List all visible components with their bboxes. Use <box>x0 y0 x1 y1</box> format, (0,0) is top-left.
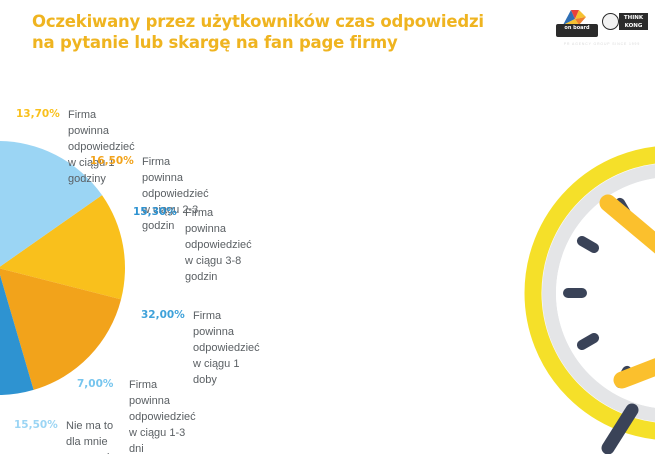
onboard-logo-text: on board <box>556 24 598 37</box>
legend-label-3: Firma powinna odpowiedziećw ciągu 3-8 go… <box>185 205 252 285</box>
infographic-canvas: Oczekiwany przez użytkowników czas odpow… <box>0 0 655 454</box>
legend-label-5: Firma powinnaodpowiedzieć w ciągu 1-3 dn… <box>129 377 196 454</box>
legend-label-6: Nie ma to dla mnie znaczenia. Nie mam sp… <box>66 418 127 454</box>
header: Oczekiwany przez użytkowników czas odpow… <box>0 0 655 70</box>
legend-percent-6: 15,50% <box>14 419 58 431</box>
logo-group: on board THINK KONG <box>556 9 648 41</box>
clock-tick <box>582 241 594 248</box>
thinkkong-logo-text: THINK KONG <box>619 13 648 30</box>
legend-percent-1: 13,70% <box>16 108 60 120</box>
title-line-2: na pytanie lub skargę na fan page firmy <box>32 32 532 53</box>
legend-label-1: Firma powinna odpowiedziećw ciągu 1 godz… <box>68 107 135 187</box>
legend-percent-5: 7,00% <box>77 378 113 390</box>
clock-illustration <box>510 135 655 454</box>
page-title: Oczekiwany przez użytkowników czas odpow… <box>32 11 532 53</box>
clock-tick <box>582 338 594 345</box>
legend-percent-3: 15,30% <box>133 206 177 218</box>
thinkkong-logo-mark-icon <box>602 13 619 30</box>
legend-percent-2: 16,50% <box>90 155 134 167</box>
legend-percent-4: 32,00% <box>141 309 185 321</box>
clock-icon <box>510 135 655 454</box>
title-line-1: Oczekiwany przez użytkowników czas odpow… <box>32 11 532 32</box>
logo-tagline: PR AGENCY GROUP SINCE 1999 <box>556 42 648 46</box>
onboard-logo: on board <box>556 9 598 37</box>
legend-label-4: Firma powinna odpowiedziećw ciągu 1 doby <box>193 308 260 388</box>
thinkkong-logo: THINK KONG <box>602 11 648 33</box>
